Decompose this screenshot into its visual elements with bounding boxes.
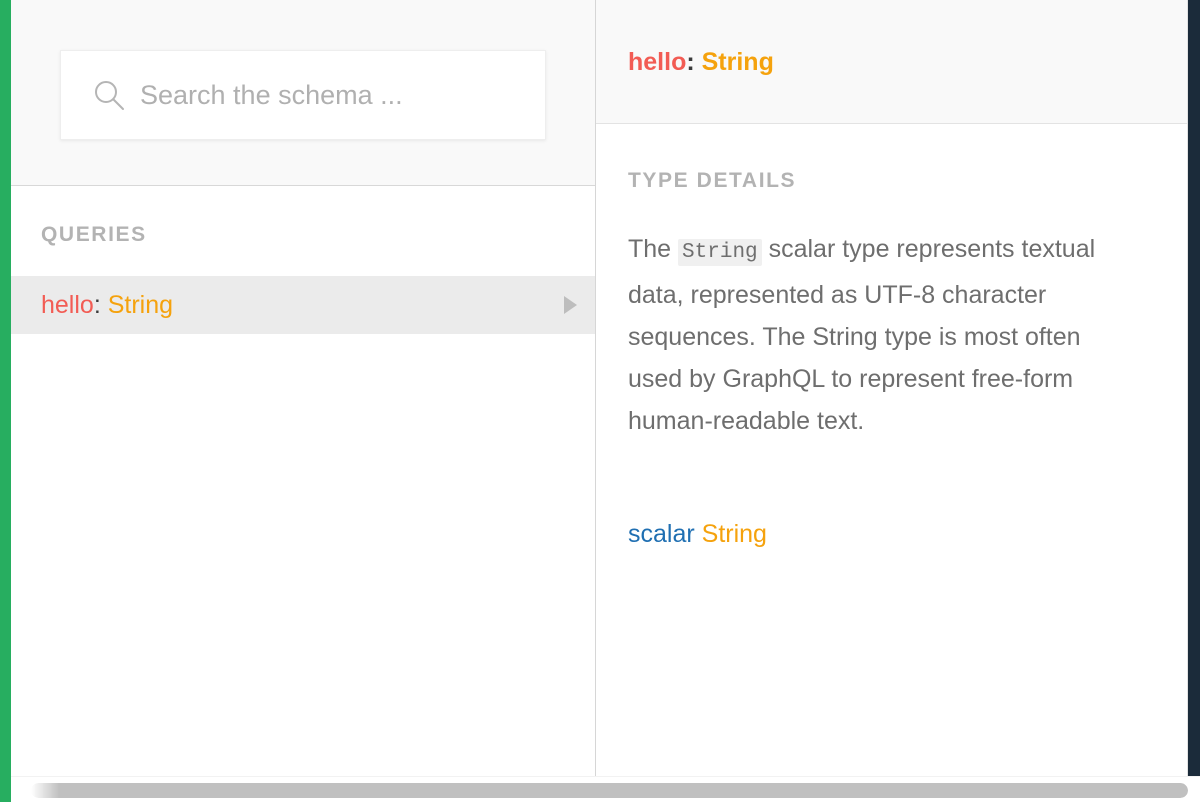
doc-subtitle-type-details: TYPE DETAILS xyxy=(628,168,1155,194)
doc-title-type-link[interactable]: String xyxy=(702,48,774,76)
field-row-hello[interactable]: hello: String xyxy=(11,276,595,334)
field-type[interactable]: String xyxy=(108,291,173,319)
type-doc-panel: hello: String TYPE DETAILS The String sc… xyxy=(596,0,1188,776)
doc-explorer: QUERIES hello: String hello: Str xyxy=(11,0,1188,776)
sdl-type-name[interactable]: String xyxy=(702,520,767,548)
doc-body: TYPE DETAILS The String scalar type repr… xyxy=(596,124,1187,550)
editor-edge-strip xyxy=(1188,0,1200,776)
field-list: hello: String xyxy=(11,276,595,334)
search-box[interactable] xyxy=(60,50,546,140)
field-separator: : xyxy=(94,291,101,319)
left-accent-rail xyxy=(0,0,11,802)
search-area xyxy=(11,0,595,186)
doc-explorer-app: QUERIES hello: String hello: Str xyxy=(0,0,1200,802)
doc-header: hello: String xyxy=(596,0,1187,124)
section-title-queries: QUERIES xyxy=(11,186,595,248)
field-signature: hello: String xyxy=(41,290,173,320)
doc-sdl-definition: scalar String xyxy=(628,518,1155,550)
search-icon xyxy=(92,78,126,112)
doc-description: The String scalar type represents textua… xyxy=(628,228,1128,442)
schema-sidebar: QUERIES hello: String xyxy=(11,0,596,776)
inline-code-chip: String xyxy=(678,239,762,266)
sdl-keyword-scalar: scalar xyxy=(628,520,695,548)
doc-title-separator: : xyxy=(686,48,694,76)
triangle-right-icon[interactable] xyxy=(564,296,577,314)
search-input[interactable] xyxy=(140,75,545,115)
horizontal-scrollbar-thumb[interactable] xyxy=(31,783,1188,798)
description-text-before: The xyxy=(628,235,678,263)
schema-tree: QUERIES hello: String xyxy=(11,186,595,775)
doc-title-field-name: hello xyxy=(628,48,686,76)
horizontal-scrollbar-track[interactable] xyxy=(11,776,1200,802)
doc-title: hello: String xyxy=(628,47,774,77)
field-name[interactable]: hello xyxy=(41,291,94,319)
